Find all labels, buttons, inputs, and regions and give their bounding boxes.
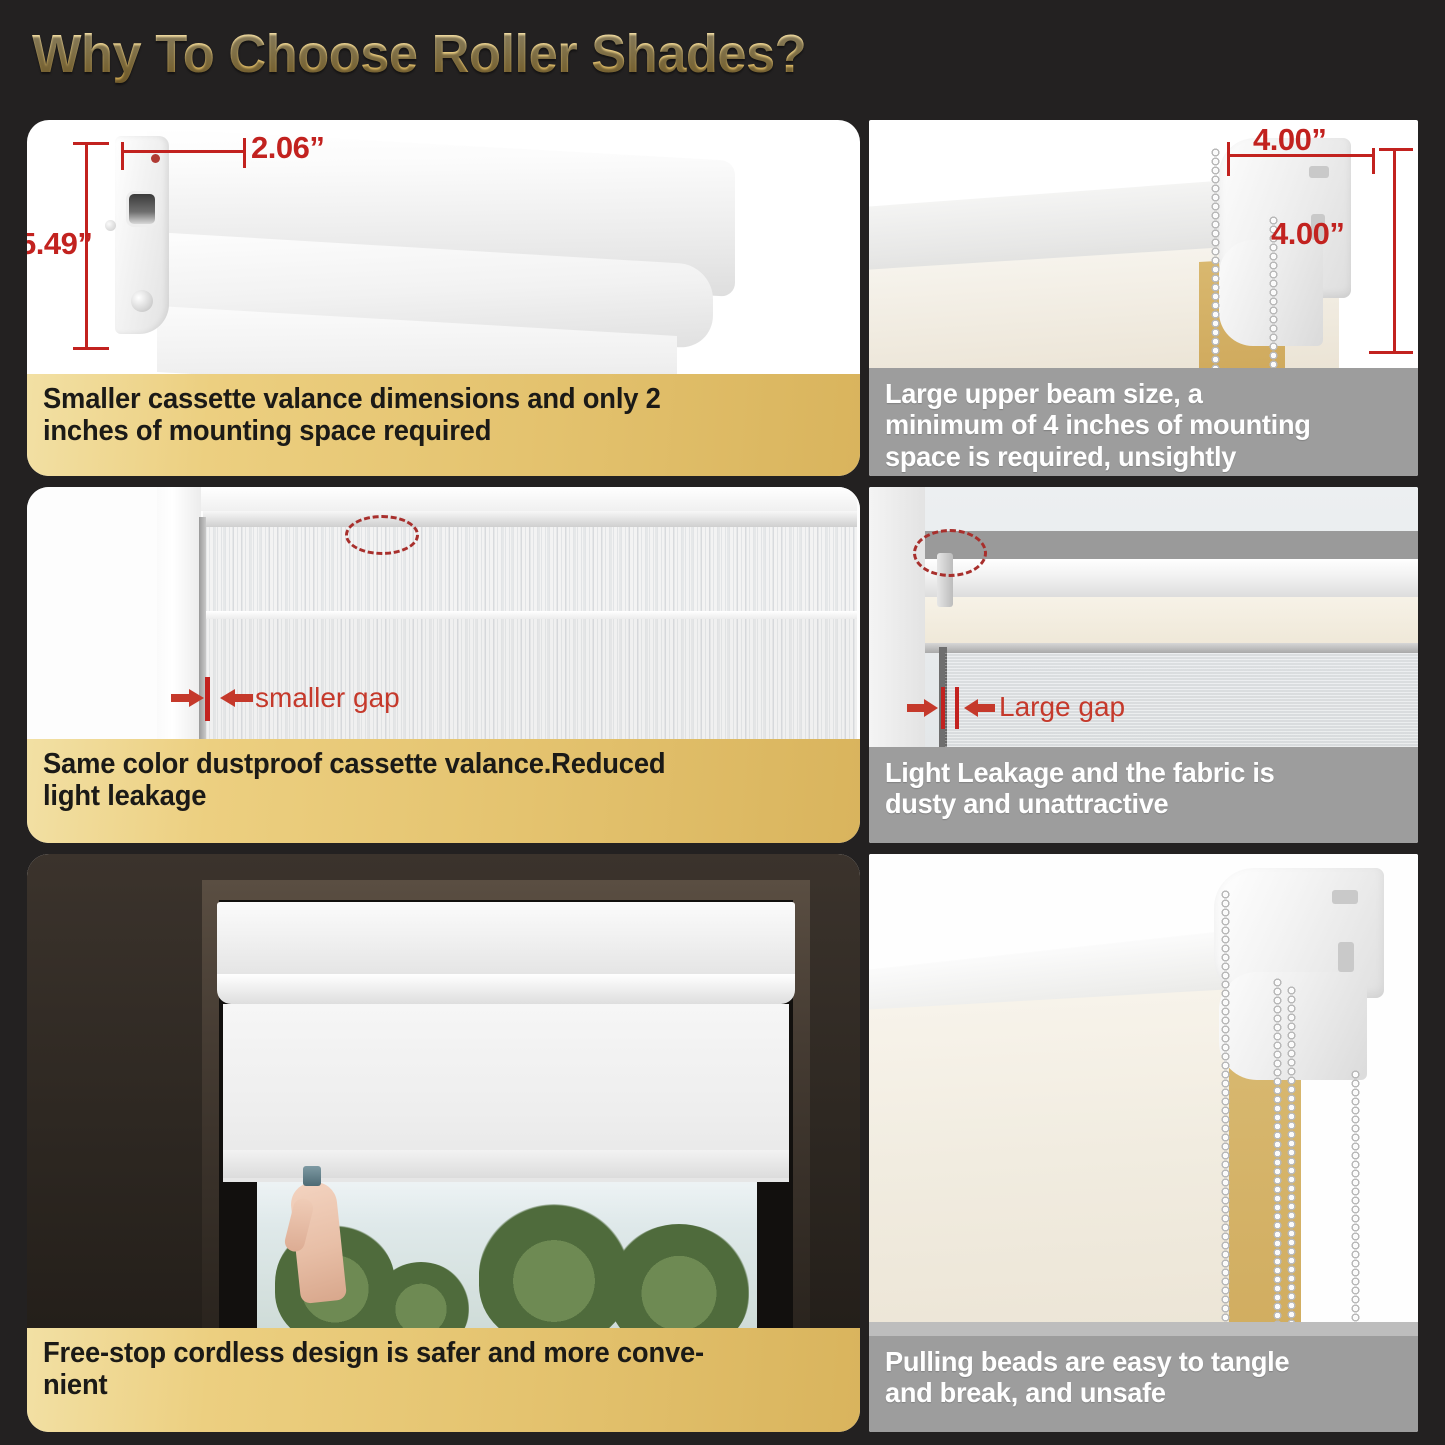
dim-tick-right	[1372, 148, 1375, 174]
panel-pulling-beads: Pulling beads are easy to tangle and bre…	[869, 854, 1418, 1432]
dimension-label-height: 5.49”	[27, 226, 92, 262]
bracket-marker-dot	[151, 154, 160, 163]
infographic-page: Why To Choose Roller Shades? 2.06”	[0, 0, 1445, 1445]
bead-chain-icon	[1211, 148, 1220, 368]
cordless-window-scene-photo	[27, 854, 860, 1328]
cassette-valance-photo: 2.06” 5.49”	[27, 120, 860, 374]
dim-line-height	[1393, 148, 1396, 354]
caption-cassette-valance-dimensions: Smaller cassette valance dimensions and …	[27, 374, 860, 476]
dim-tick-right	[243, 138, 246, 168]
cassette-valance	[217, 902, 795, 980]
gap-label: Large gap	[999, 691, 1125, 723]
highlight-ellipse	[913, 529, 987, 577]
pulling-beads-photo	[869, 854, 1418, 1336]
caption-free-stop-cordless: Free-stop cordless design is safer and m…	[27, 1328, 860, 1432]
arrow-right-icon	[171, 687, 205, 709]
bead-chain-icon	[1351, 1070, 1360, 1334]
caption-dustproof-cassette-valance: Same color dustproof cassette valance.Re…	[27, 739, 860, 843]
gap-marker	[941, 687, 945, 729]
gap-marker	[955, 687, 959, 729]
caption-light-leakage: Light Leakage and the fabric is dusty an…	[869, 747, 1418, 843]
panel-dustproof-cassette-valance: smaller gap Same color dustproof cassett…	[27, 487, 860, 843]
title-bar: Why To Choose Roller Shades?	[0, 0, 1445, 108]
dim-tick-top	[1379, 148, 1413, 151]
large-beam-photo: 4.00” 4.00”	[869, 120, 1418, 368]
valance-screw-icon	[105, 220, 116, 231]
dustproof-valance-photo: smaller gap	[27, 487, 860, 739]
dimension-label-width: 4.00”	[1253, 122, 1326, 158]
panel-large-upper-beam: 4.00” 4.00” Large upper beam size, a min…	[869, 120, 1418, 476]
gap-marker	[205, 677, 210, 721]
bracket-slot-icon	[129, 194, 155, 224]
highlight-ellipse	[345, 515, 419, 555]
dim-tick-bottom	[1369, 351, 1413, 354]
panel-cassette-valance-dimensions: 2.06” 5.49” Smaller cassette valance dim…	[27, 120, 860, 476]
bracket-screw-icon	[131, 290, 153, 312]
caption-large-upper-beam: Large upper beam size, a minimum of 4 in…	[869, 368, 1418, 476]
comparison-grid: 2.06” 5.49” Smaller cassette valance dim…	[0, 108, 1445, 1445]
panel-light-leakage: Large gap Light Leakage and the fabric i…	[869, 487, 1418, 843]
light-leakage-photo: Large gap	[869, 487, 1418, 747]
dimension-label-width: 2.06”	[251, 130, 324, 166]
dim-tick-left	[1227, 142, 1230, 176]
page-title: Why To Choose Roller Shades?	[0, 23, 806, 85]
bead-chain-icon	[1273, 978, 1282, 1334]
caption-pulling-beads: Pulling beads are easy to tangle and bre…	[869, 1336, 1418, 1432]
arrow-left-icon	[963, 697, 995, 719]
dim-line-width	[121, 150, 245, 153]
arrow-right-icon	[907, 697, 939, 719]
panel-free-stop-cordless: Free-stop cordless design is safer and m…	[27, 854, 860, 1432]
bead-chain-icon	[1221, 890, 1230, 1330]
dimension-label-height: 4.00”	[1271, 216, 1344, 252]
dim-tick-left	[121, 142, 124, 170]
dim-tick-top	[73, 142, 109, 145]
bead-chain-icon	[1287, 986, 1296, 1334]
shade-pull-handle	[303, 1166, 321, 1186]
dim-tick-bottom	[73, 347, 109, 350]
arrow-left-icon	[219, 687, 253, 709]
gap-label: smaller gap	[255, 682, 400, 714]
